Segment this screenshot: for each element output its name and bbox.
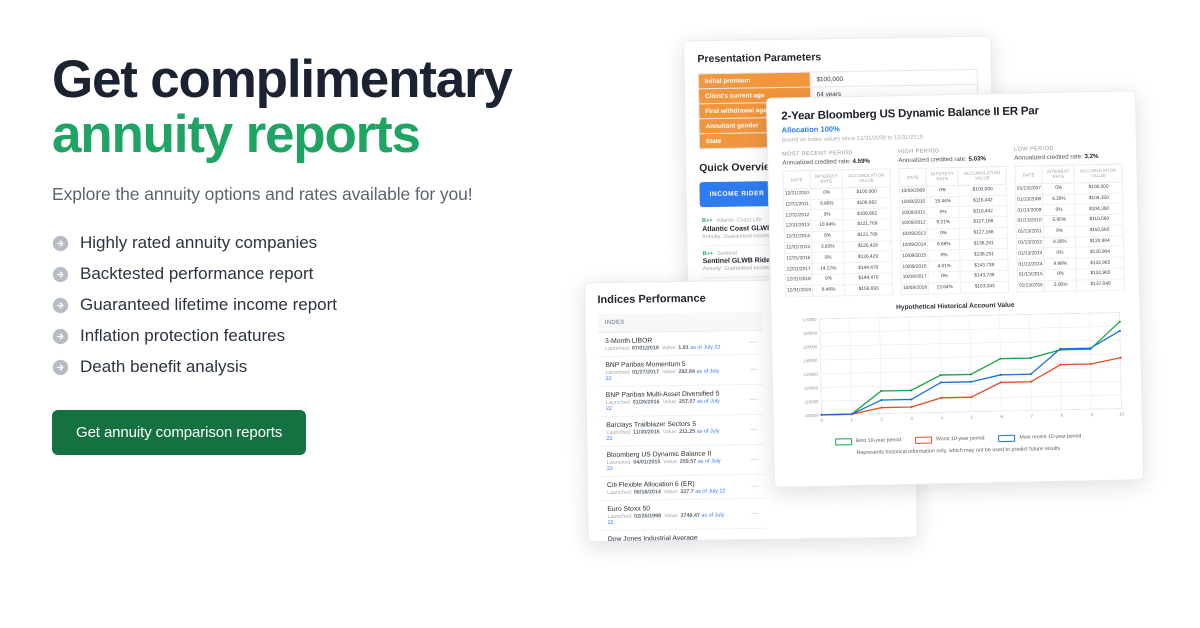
column-header: ACCUMULATION VALUE bbox=[958, 166, 1006, 185]
period-column: MOST RECENT PERIODAnnualized credited ra… bbox=[782, 149, 893, 297]
feature-list-item: Guaranteed lifetime income report bbox=[52, 295, 572, 315]
legend-item: Worst 10-year period bbox=[915, 435, 984, 443]
table-cell: 01/13/2008 bbox=[1016, 194, 1043, 205]
table-row: 10/09/201813.64%$163,343 bbox=[901, 281, 1008, 294]
feature-list: Highly rated annuity companiesBacktested… bbox=[52, 233, 572, 377]
table-cell: 12/31/2011 bbox=[784, 199, 811, 210]
index-meta: Launched: 01/27/2017 Value: 282.84 as of… bbox=[605, 368, 724, 382]
column-header: INTEREST RATE bbox=[926, 167, 959, 185]
svg-text:3: 3 bbox=[910, 415, 913, 420]
table-cell: 0% bbox=[928, 271, 961, 282]
table-cell: 0% bbox=[811, 231, 844, 242]
period-table: DATEINTEREST RATEACCUMULATION VALUE12/31… bbox=[782, 168, 893, 297]
rider-company: Atlantic Coast Life bbox=[717, 217, 762, 224]
table-cell: 01/13/2009 bbox=[1016, 205, 1043, 216]
column-header: DATE bbox=[899, 168, 926, 186]
index-name-cell: Dow Jones Industrial AverageLaunched: 05… bbox=[601, 529, 734, 543]
table-cell: 13.64% bbox=[928, 282, 961, 293]
period-column: LOW PERIODAnnualized credited rate: 3.2%… bbox=[1014, 144, 1125, 292]
get-annuity-comparison-reports-button[interactable]: Get annuity comparison reports bbox=[52, 410, 306, 455]
table-cell: 0% bbox=[927, 207, 960, 218]
index-meta: Launched: 11/30/2015 Value: 211.25 as of… bbox=[606, 428, 725, 442]
table-row: 12/31/20198.46%$156,693 bbox=[785, 284, 892, 297]
feature-label: Death benefit analysis bbox=[80, 357, 247, 377]
table-cell: 14.27% bbox=[812, 263, 845, 274]
svg-text:5: 5 bbox=[970, 414, 973, 419]
table-cell: 12/31/2015 bbox=[784, 242, 811, 253]
period-rate: Annualized credited rate: 3.2% bbox=[1014, 152, 1122, 161]
table-cell: 0% bbox=[928, 250, 961, 261]
index-value-empty: — bbox=[730, 330, 763, 354]
table-cell: 0% bbox=[1043, 226, 1076, 237]
period-label: LOW PERIOD bbox=[1014, 144, 1122, 152]
legend-item: Most recent 10-year period bbox=[998, 433, 1081, 442]
index-name-cell: Barclays Trailblazer Sectors 5Launched: … bbox=[599, 415, 732, 447]
index-value-empty: — bbox=[732, 474, 765, 498]
index-meta: Launched: 04/01/2015 Value: 259.57 as of… bbox=[607, 458, 726, 472]
table-cell: 4.35% bbox=[1043, 193, 1076, 204]
table-cell: 01/13/2007 bbox=[1015, 183, 1042, 194]
table-cell: 12/31/2010 bbox=[783, 188, 810, 199]
feature-list-item: Highly rated annuity companies bbox=[52, 233, 572, 253]
period-rate: Annualized credited rate: 4.59% bbox=[782, 157, 890, 166]
table-row: Euro Stoxx 50Launched: 02/26/1998 Value:… bbox=[600, 496, 904, 530]
table-cell: $137,040 bbox=[1077, 279, 1125, 291]
svg-text:170000: 170000 bbox=[803, 316, 818, 321]
table-cell: 01/13/2015 bbox=[1017, 270, 1044, 281]
table-cell: 12/31/2019 bbox=[785, 285, 812, 296]
table-cell: 01/13/2016 bbox=[1017, 280, 1044, 291]
feature-label: Backtested performance report bbox=[80, 264, 313, 284]
chart-disclaimer: Represents historical information only, … bbox=[788, 444, 1128, 457]
svg-text:0: 0 bbox=[820, 417, 823, 422]
table-cell: 10/09/2013 bbox=[900, 229, 927, 240]
table-cell: 0% bbox=[812, 252, 845, 263]
arrow-circle-icon bbox=[52, 235, 69, 252]
arrow-circle-icon bbox=[52, 297, 69, 314]
index-name-cell: Citi Flexible Allocation 6 (ER)Launched:… bbox=[600, 475, 733, 501]
table-cell: 9.98% bbox=[1044, 258, 1077, 269]
headline-line-1: Get complimentary bbox=[52, 50, 512, 109]
table-cell: 12/31/2013 bbox=[784, 221, 811, 232]
table-cell: $163,343 bbox=[961, 281, 1009, 293]
rider-rating: B++ bbox=[702, 250, 713, 256]
svg-text:9: 9 bbox=[1090, 412, 1093, 417]
table-cell: 12/31/2018 bbox=[785, 274, 812, 285]
period-label: MOST RECENT PERIOD bbox=[782, 149, 890, 157]
headline-line-2: annuity reports bbox=[52, 107, 572, 162]
index-name-cell: BNP Paribas Multi-Asset Diversified 5Lau… bbox=[599, 385, 732, 417]
period-rate: Annualized credited rate: 5.03% bbox=[898, 155, 1006, 164]
table-cell: 10/09/2016 bbox=[901, 261, 928, 272]
rider-rating: B++ bbox=[702, 218, 713, 224]
index-value-empty: — bbox=[731, 414, 764, 444]
table-cell: 12/31/2017 bbox=[785, 264, 812, 275]
svg-text:2: 2 bbox=[880, 416, 883, 421]
index-name-cell: Euro Stoxx 50Launched: 02/26/1998 Value:… bbox=[600, 499, 733, 531]
column-header: ACCUMULATION VALUE bbox=[1074, 164, 1122, 183]
column-header: INTEREST RATE bbox=[1042, 165, 1075, 183]
svg-text:100000: 100000 bbox=[805, 412, 820, 417]
table-cell: 0% bbox=[811, 209, 844, 220]
index-value-empty: — bbox=[731, 354, 764, 384]
table-cell: 3.83% bbox=[812, 241, 845, 252]
period-table: DATEINTEREST RATEACCUMULATION VALUE10/09… bbox=[898, 166, 1009, 295]
index-value-empty: — bbox=[732, 444, 765, 474]
column-header: ACCUMULATION VALUE bbox=[842, 169, 890, 188]
table-cell: 0% bbox=[812, 274, 845, 285]
svg-text:140000: 140000 bbox=[803, 358, 818, 363]
table-cell: 3.06% bbox=[1044, 280, 1077, 291]
feature-label: Highly rated annuity companies bbox=[80, 233, 317, 253]
table-cell: 10/09/2017 bbox=[901, 272, 928, 283]
svg-text:4: 4 bbox=[940, 415, 943, 420]
index-meta: Launched: 07/01/2019 Value: 1.91 as of J… bbox=[605, 344, 723, 352]
table-cell: 9.21% bbox=[927, 217, 960, 228]
feature-list-item: Death benefit analysis bbox=[52, 357, 572, 377]
table-cell: $156,693 bbox=[845, 284, 893, 296]
svg-text:150000: 150000 bbox=[803, 344, 818, 349]
table-cell: 0% bbox=[1044, 247, 1077, 258]
param-key: Initial premium bbox=[698, 72, 810, 89]
table-cell: 12/31/2012 bbox=[784, 210, 811, 221]
table-cell: 5.95% bbox=[1043, 215, 1076, 226]
table-row: 01/13/20163.06%$137,040 bbox=[1017, 279, 1124, 292]
svg-text:130000: 130000 bbox=[804, 371, 819, 376]
svg-text:1: 1 bbox=[850, 417, 853, 422]
table-cell: 0% bbox=[1042, 183, 1075, 194]
legend-swatch bbox=[915, 436, 932, 443]
legend-label: Worst 10-year period bbox=[936, 435, 984, 442]
index-meta: Launched: 01/26/2016 Value: 257.07 as of… bbox=[606, 398, 725, 412]
table-cell: 9.86% bbox=[811, 198, 844, 209]
report-preview-stack: Presentation Parameters Initial premium$… bbox=[560, 0, 1200, 628]
svg-text:10: 10 bbox=[1119, 411, 1125, 416]
table-cell: 01/13/2014 bbox=[1017, 259, 1044, 270]
column-header: INTEREST RATE bbox=[810, 170, 843, 188]
table-cell: 4.01% bbox=[928, 261, 961, 272]
subheadline: Explore the annuity options and rates av… bbox=[52, 184, 572, 205]
table-cell: 10/09/2009 bbox=[899, 186, 926, 197]
arrow-circle-icon bbox=[52, 266, 69, 283]
arrow-circle-icon bbox=[52, 359, 69, 376]
svg-text:7: 7 bbox=[1030, 413, 1033, 418]
index-value-empty: — bbox=[733, 498, 766, 528]
legend-item: Best 10-year period bbox=[835, 437, 901, 445]
table-cell: 01/13/2012 bbox=[1016, 237, 1043, 248]
index-name: Dow Jones Industrial Average bbox=[608, 534, 727, 542]
table-cell: 10/09/2014 bbox=[900, 240, 927, 251]
table-cell: 0% bbox=[1044, 269, 1077, 280]
table-cell: 12/31/2014 bbox=[784, 231, 811, 242]
index-detail-card: 2-Year Bloomberg US Dynamic Balance II E… bbox=[766, 90, 1144, 488]
legend-label: Best 10-year period bbox=[856, 437, 901, 444]
table-cell: 01/13/2011 bbox=[1016, 226, 1043, 237]
historical-account-value-chart: Hypothetical Historical Account Value 10… bbox=[785, 299, 1128, 457]
index-meta: Launched: 06/18/2014 Value: 327.7 as of … bbox=[607, 488, 725, 496]
table-cell: 9.36% bbox=[1043, 237, 1076, 248]
table-cell: 01/13/2013 bbox=[1017, 248, 1044, 259]
legend-swatch bbox=[835, 438, 852, 445]
svg-text:120000: 120000 bbox=[804, 385, 819, 390]
table-cell: 10/09/2011 bbox=[900, 207, 927, 218]
table-cell: 8.68% bbox=[927, 239, 960, 250]
legend-label: Most recent 10-year period bbox=[1019, 433, 1081, 440]
index-name-cell: 3-Month LIBORLaunched: 07/01/2019 Value:… bbox=[598, 331, 731, 357]
feature-label: Guaranteed lifetime income report bbox=[80, 295, 337, 315]
chart-plot: 1000001100001200001300001400001500001600… bbox=[785, 306, 1127, 431]
table-cell: 0% bbox=[927, 228, 960, 239]
table-cell: 12/31/2016 bbox=[785, 253, 812, 264]
table-cell: 0% bbox=[810, 188, 843, 199]
column-header: DATE bbox=[1015, 166, 1042, 184]
table-cell: 0% bbox=[1043, 204, 1076, 215]
feature-list-item: Backtested performance report bbox=[52, 264, 572, 284]
table-cell: 8.46% bbox=[812, 285, 845, 296]
period-label: HIGH PERIOD bbox=[898, 147, 1006, 155]
chart-legend: Best 10-year periodWorst 10-year periodM… bbox=[788, 432, 1128, 446]
index-meta: Launched: 02/26/1998 Value: 3748.47 as o… bbox=[607, 512, 726, 526]
index-name-cell: Bloomberg US Dynamic Balance IILaunched:… bbox=[599, 445, 732, 477]
svg-text:6: 6 bbox=[1000, 414, 1003, 419]
table-cell: 10/09/2015 bbox=[901, 250, 928, 261]
index-value-empty: — bbox=[733, 528, 766, 542]
feature-label: Inflation protection features bbox=[80, 326, 285, 346]
table-cell: 01/13/2010 bbox=[1016, 216, 1043, 227]
indices-column-header: INDEX bbox=[598, 312, 731, 332]
table-cell: 0% bbox=[926, 185, 959, 196]
presentation-parameters-title: Presentation Parameters bbox=[697, 49, 977, 65]
feature-list-item: Inflation protection features bbox=[52, 326, 572, 346]
table-cell: 10/09/2018 bbox=[901, 283, 928, 294]
table-cell: 10/09/2012 bbox=[900, 218, 927, 229]
table-cell: 10.84% bbox=[811, 220, 844, 231]
arrow-circle-icon bbox=[52, 328, 69, 345]
promo-section: Get complimentary annuity reports Explor… bbox=[52, 52, 572, 455]
svg-text:110000: 110000 bbox=[805, 399, 819, 404]
page-title: Get complimentary annuity reports bbox=[52, 52, 572, 162]
period-columns: MOST RECENT PERIODAnnualized credited ra… bbox=[782, 144, 1125, 297]
svg-text:8: 8 bbox=[1060, 412, 1063, 417]
period-table: DATEINTEREST RATEACCUMULATION VALUE01/13… bbox=[1014, 163, 1125, 292]
rider-company: Sentinel bbox=[717, 250, 737, 256]
table-cell: 16.44% bbox=[927, 196, 960, 207]
legend-swatch bbox=[998, 434, 1015, 441]
column-header: DATE bbox=[783, 171, 810, 189]
index-value-empty: — bbox=[731, 384, 764, 414]
period-column: HIGH PERIODAnnualized credited rate: 5.0… bbox=[898, 147, 1009, 295]
index-name-cell: BNP Paribas Momentum 5Launched: 01/27/20… bbox=[598, 355, 731, 387]
table-cell: 10/09/2010 bbox=[900, 197, 927, 208]
svg-text:160000: 160000 bbox=[803, 330, 818, 335]
